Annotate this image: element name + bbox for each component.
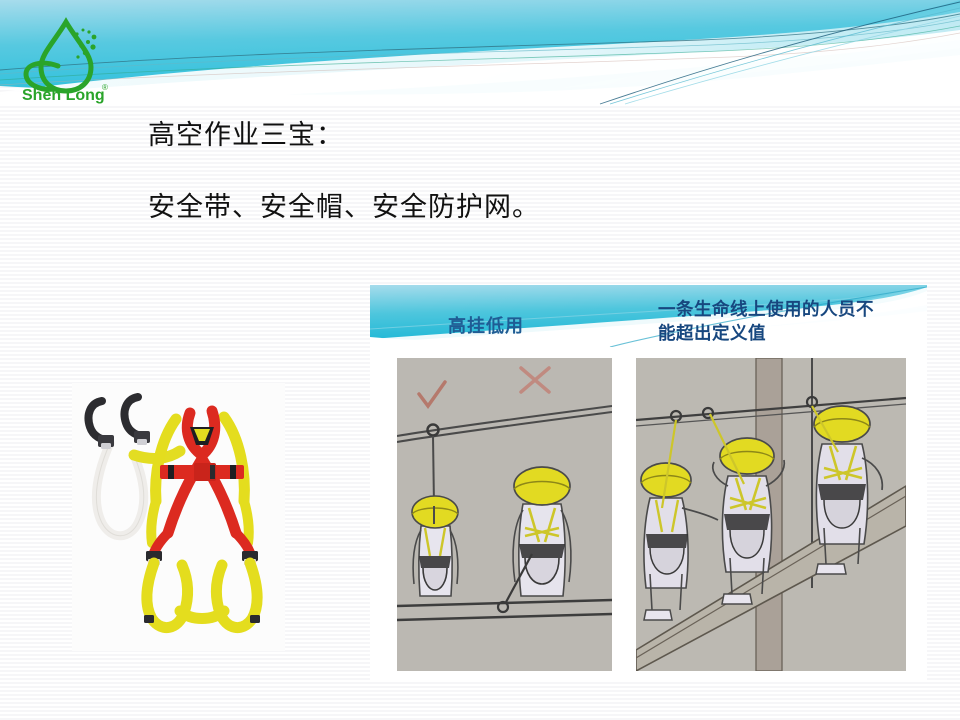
panel-title-right-line1: 一条生命线上使用的人员不 (658, 297, 920, 321)
shen-long-logo: Shen Long ® (14, 12, 118, 104)
text-items: 安全带、安全帽、安全防护网。 (148, 190, 848, 224)
logo-wordmark: Shen Long (22, 87, 105, 104)
header-banner (0, 0, 960, 105)
safety-harness-photo (72, 383, 285, 651)
body-text-block: 高空作业三宝： 安全带、安全帽、安全防护网。 (148, 118, 848, 224)
lifeline-capacity-illustration (636, 358, 906, 671)
worker-correct (412, 496, 458, 596)
text-heading: 高空作业三宝： (148, 118, 848, 152)
panel-title-right-line2: 能超出定义值 (658, 321, 920, 345)
registered-mark: ® (102, 83, 108, 92)
panel-title-left: 高挂低用 (448, 312, 524, 338)
panel-title-right: 一条生命线上使用的人员不 能超出定义值 (658, 297, 920, 345)
high-anchor-low-use-illustration (397, 358, 612, 671)
illustration-panel: 高挂低用 一条生命线上使用的人员不 能超出定义值 (370, 285, 927, 681)
